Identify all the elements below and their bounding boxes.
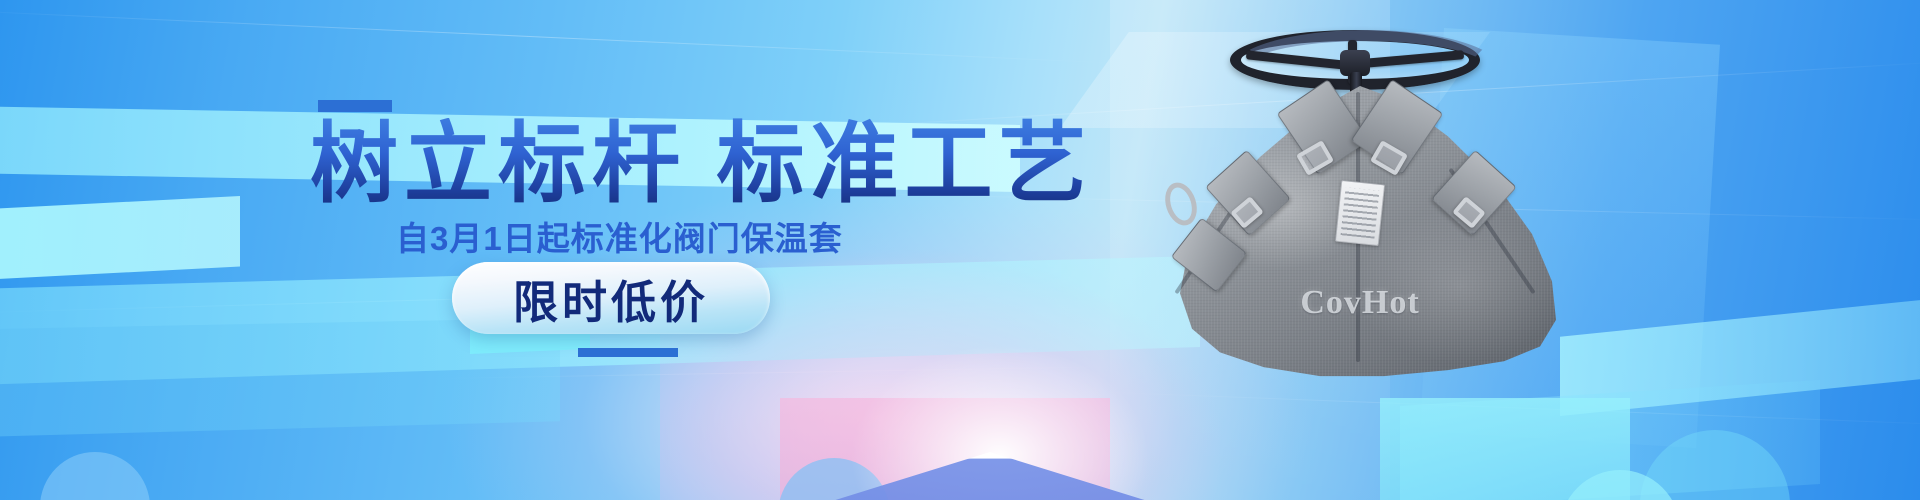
banner-copy: 树立标杆 标准工艺 自3月1日起标准化阀门保温套 限时低价 bbox=[0, 0, 1100, 500]
cta-button[interactable]: 限时低价 bbox=[452, 262, 770, 334]
dash-icon bbox=[318, 100, 392, 112]
product-image-valve-insulation-jacket: CovHot bbox=[1150, 22, 1570, 382]
cta-button-label: 限时低价 bbox=[513, 266, 709, 331]
underline-icon bbox=[578, 348, 678, 357]
label-tag-icon bbox=[1335, 180, 1385, 246]
page-title: 树立标杆 标准工艺 bbox=[310, 118, 1092, 210]
background-cyan-block bbox=[1380, 398, 1630, 500]
banner-subtitle: 自3月1日起标准化阀门保温套 bbox=[396, 212, 843, 260]
product-brand-mark: CovHot bbox=[1160, 284, 1560, 322]
d-ring-icon bbox=[1160, 178, 1202, 229]
insulation-jacket-icon: CovHot bbox=[1160, 86, 1560, 382]
promo-banner: CovHot 树立标杆 标准工艺 自3月1日起标准化阀门保温套 限时低价 bbox=[0, 0, 1920, 500]
